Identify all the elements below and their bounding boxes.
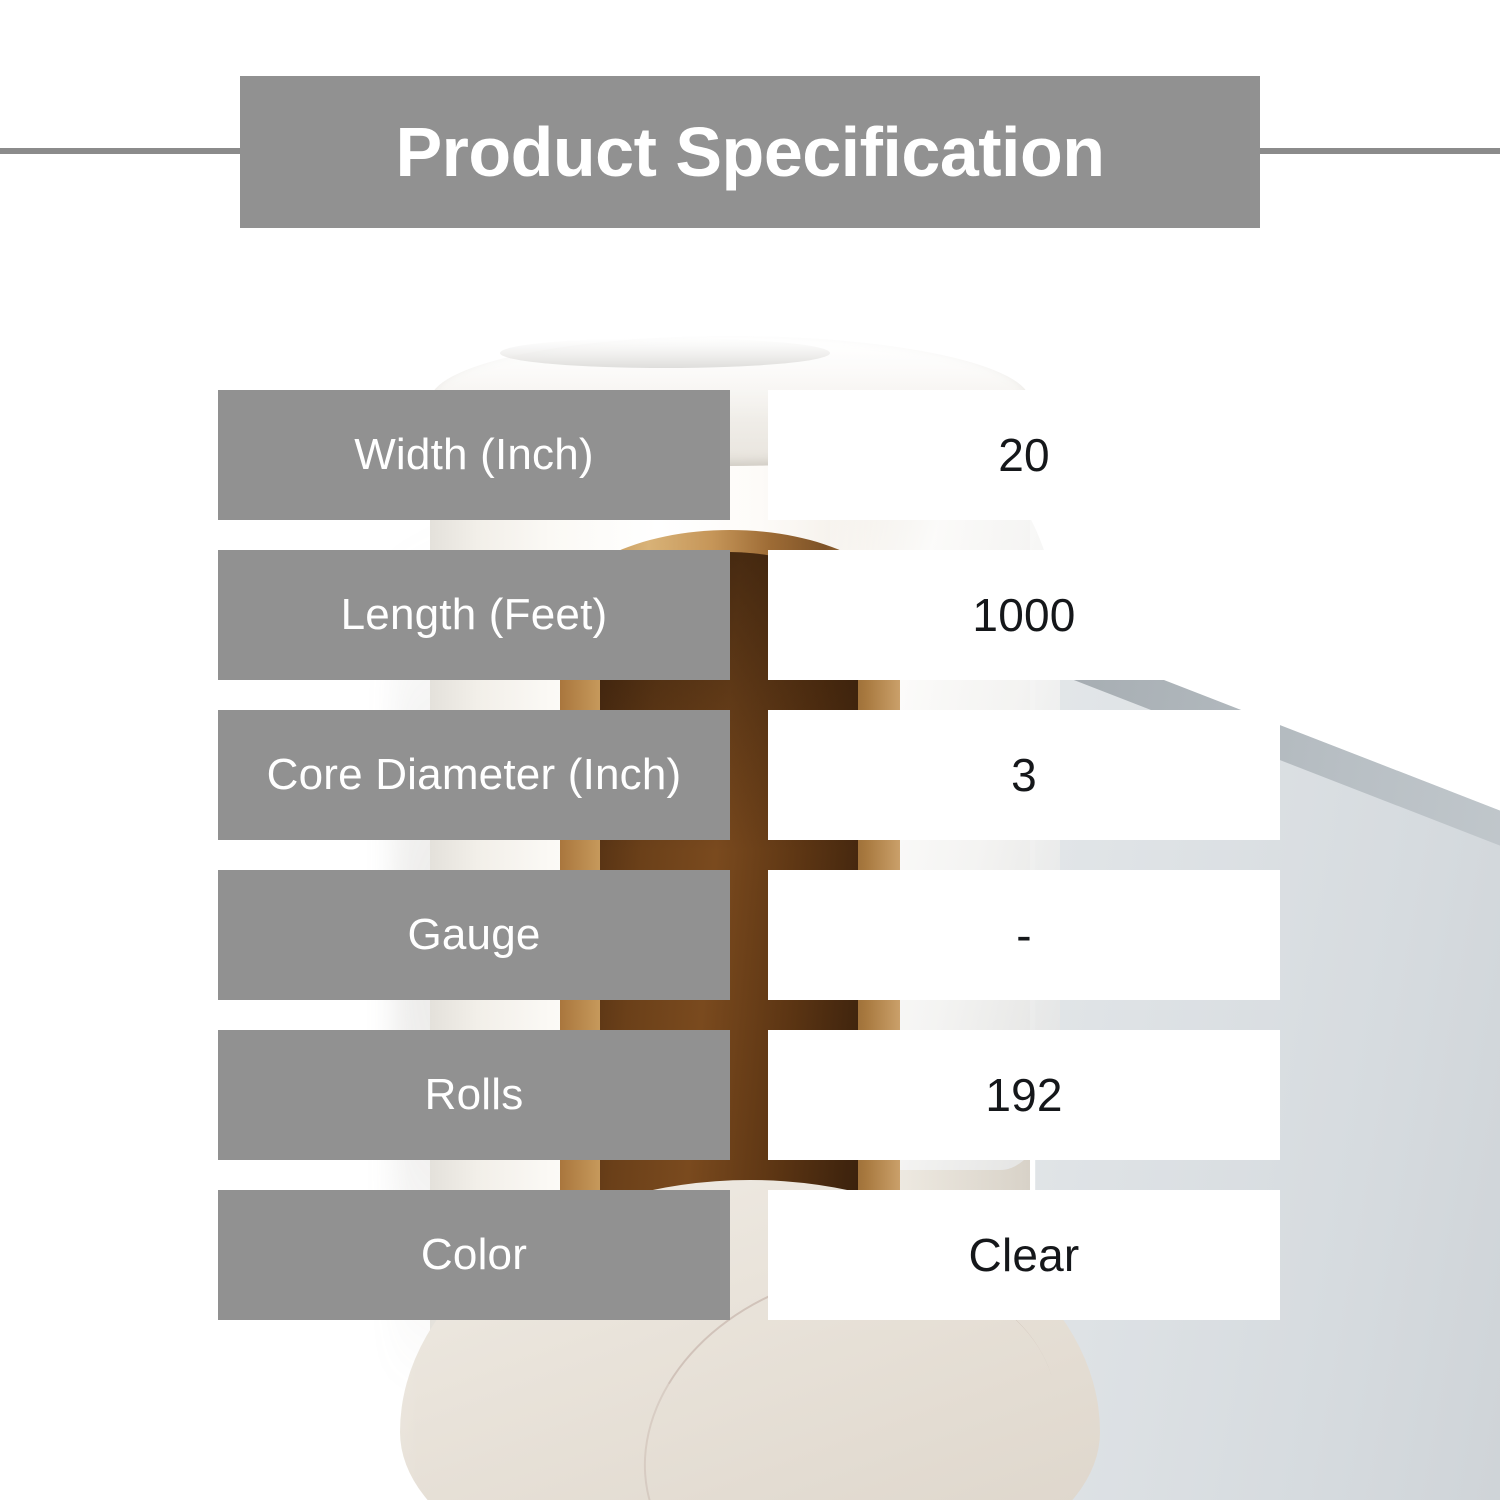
page-title: Product Specification [395, 117, 1104, 187]
spec-label-text: Length (Feet) [341, 593, 608, 638]
spec-value-cell: 20 [768, 390, 1280, 520]
spec-value-text: - [1016, 911, 1032, 959]
spec-value-cell: 1000 [768, 550, 1280, 680]
spec-value-text: 1000 [972, 591, 1075, 639]
table-row: Gauge - [218, 870, 1280, 1000]
table-row: Color Clear [218, 1190, 1280, 1320]
table-row: Core Diameter (Inch) 3 [218, 710, 1280, 840]
spec-label-text: Gauge [407, 913, 540, 958]
spec-value-cell: 192 [768, 1030, 1280, 1160]
spec-label-cell: Gauge [218, 870, 730, 1000]
spec-value-cell: Clear [768, 1190, 1280, 1320]
spec-value-text: 3 [1011, 751, 1037, 799]
header-banner: Product Specification [240, 76, 1260, 228]
table-row: Rolls 192 [218, 1030, 1280, 1160]
specification-table: Width (Inch) 20 Length (Feet) 1000 Core … [218, 390, 1280, 1320]
table-row: Length (Feet) 1000 [218, 550, 1280, 680]
spec-value-text: 192 [985, 1071, 1062, 1119]
spec-label-cell: Width (Inch) [218, 390, 730, 520]
spec-label-text: Width (Inch) [354, 433, 594, 478]
spec-label-cell: Core Diameter (Inch) [218, 710, 730, 840]
spec-label-text: Color [421, 1233, 527, 1278]
spec-label-cell: Rolls [218, 1030, 730, 1160]
spec-label-cell: Length (Feet) [218, 550, 730, 680]
spec-label-cell: Color [218, 1190, 730, 1320]
spec-value-cell: 3 [768, 710, 1280, 840]
spec-value-text: 20 [998, 431, 1050, 479]
spec-label-text: Rolls [425, 1073, 524, 1118]
spec-label-text: Core Diameter (Inch) [267, 753, 682, 798]
product-specification-card: Product Specification Width (Inch) 20 Le… [0, 0, 1500, 1500]
spec-value-cell: - [768, 870, 1280, 1000]
spec-value-text: Clear [969, 1231, 1080, 1279]
table-row: Width (Inch) 20 [218, 390, 1280, 520]
